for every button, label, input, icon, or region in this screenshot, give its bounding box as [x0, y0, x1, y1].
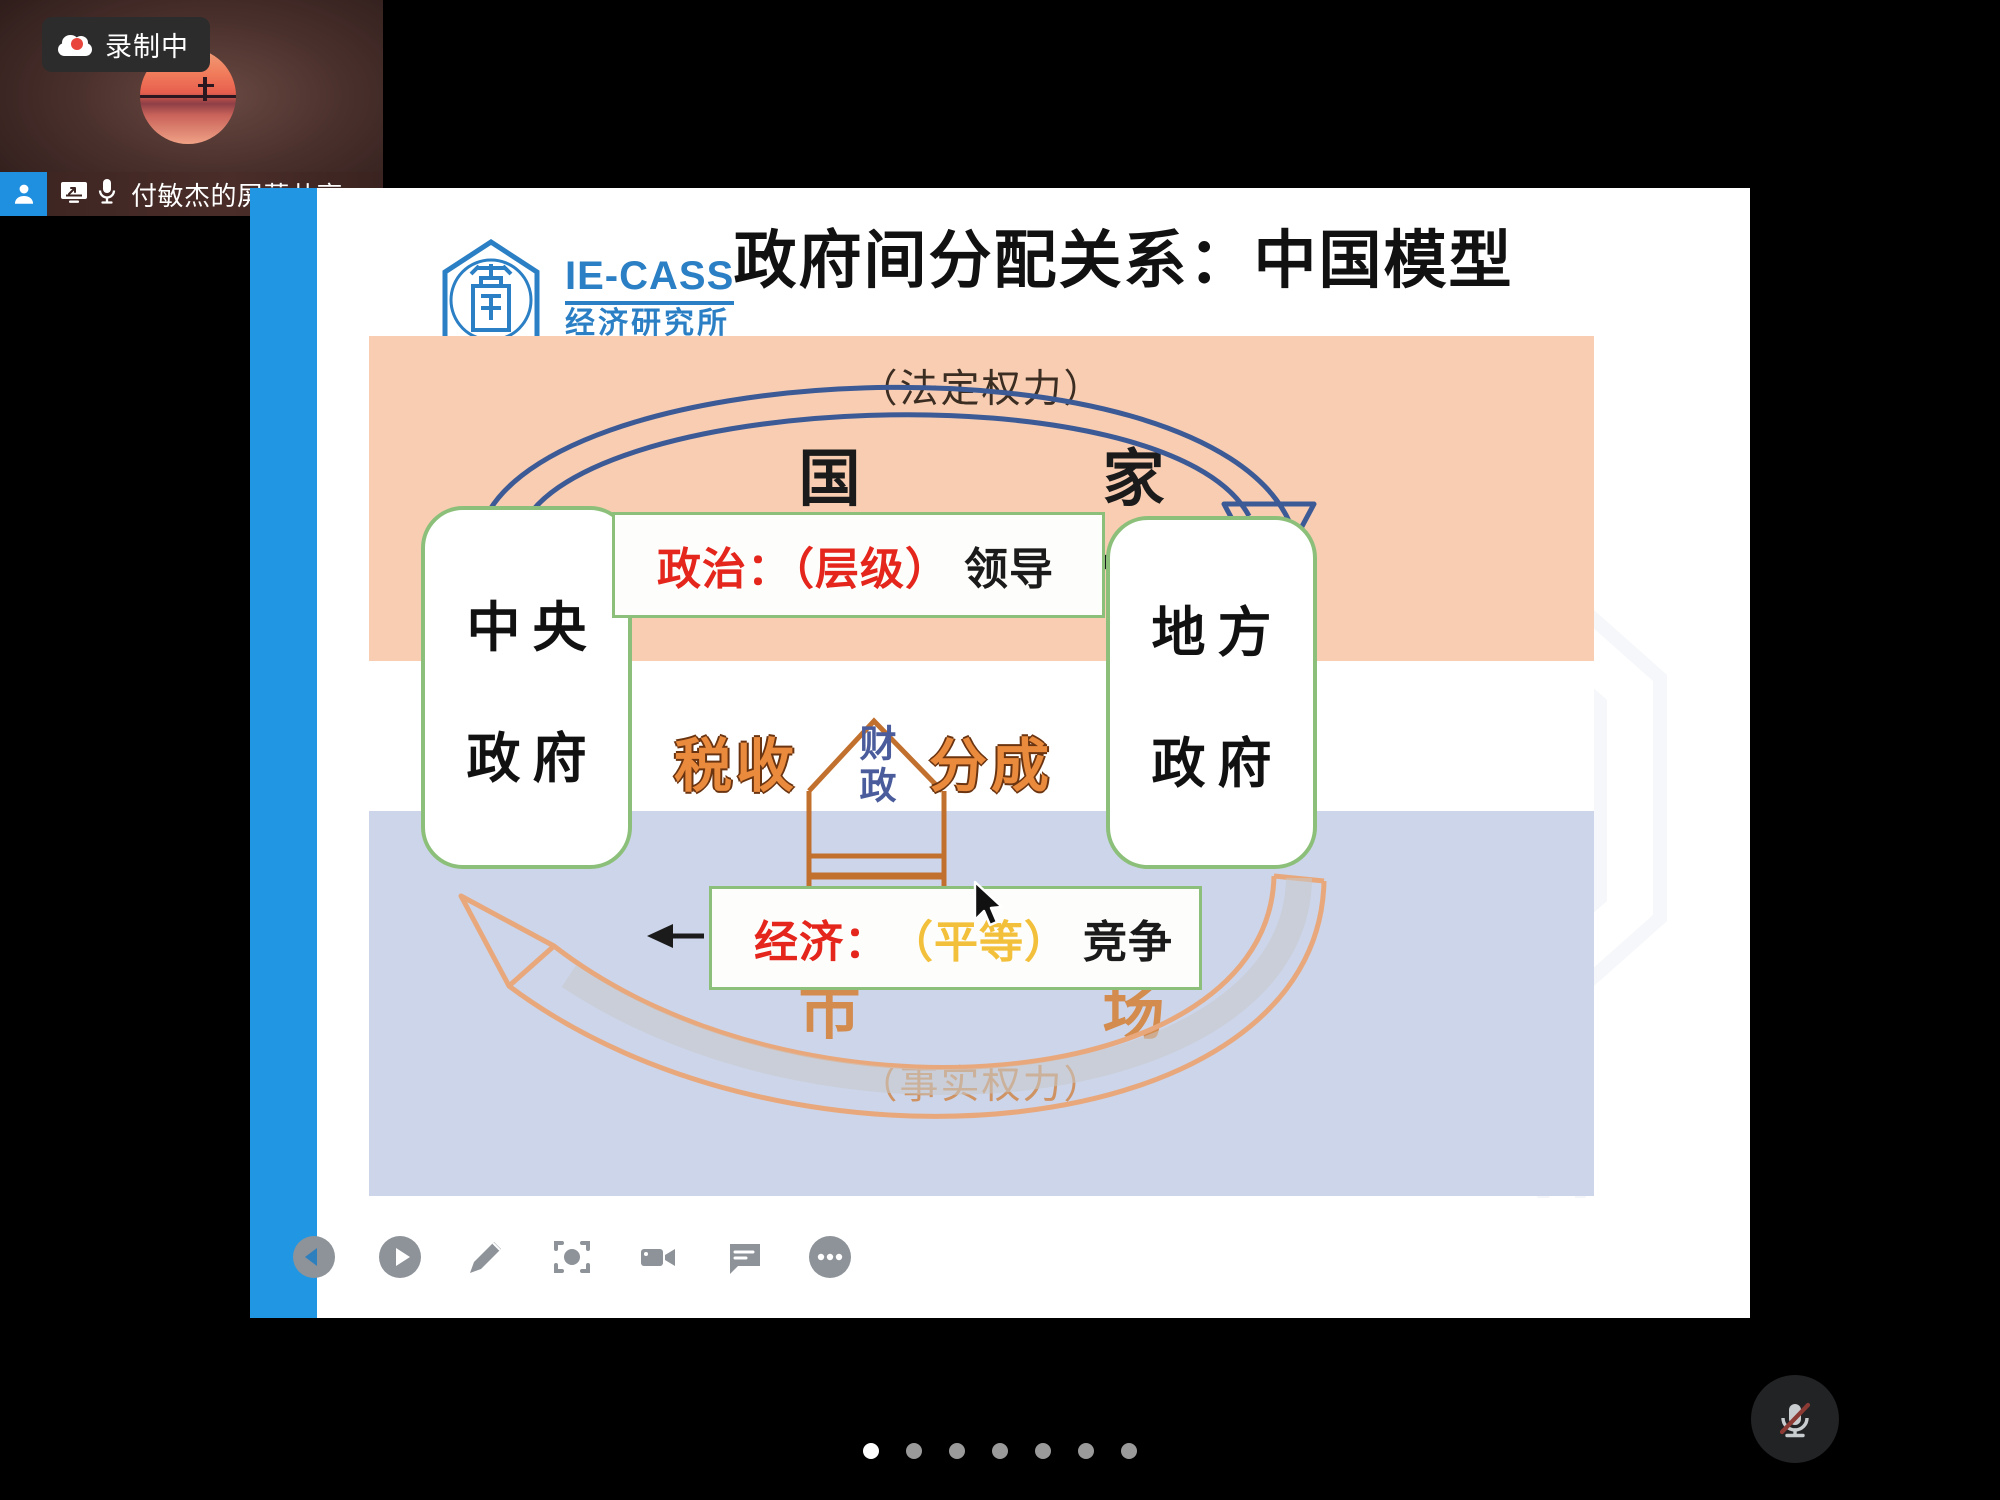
- logo-cn-text: 经济研究所: [565, 309, 734, 339]
- central-gov-line2: 政府: [455, 714, 599, 793]
- pager-dot[interactable]: [906, 1443, 922, 1459]
- economy-label-red: 经济：: [754, 906, 889, 970]
- politics-label-red: 政治：（层级）: [657, 533, 950, 597]
- microphone-muted-icon: [1772, 1396, 1818, 1442]
- record-button[interactable]: [636, 1235, 680, 1279]
- pager-dot[interactable]: [949, 1443, 965, 1459]
- slide-canvas: ECONOMICS 1929 IE-CASS 经济研究所 政府间: [317, 188, 1750, 1318]
- state-label: 国 家: [369, 428, 1594, 518]
- microphone-muted-button[interactable]: [1751, 1375, 1839, 1463]
- economy-label-black: 竞争: [1083, 906, 1173, 970]
- recording-label: 录制中: [105, 25, 189, 64]
- logo-divider: [565, 301, 734, 305]
- tax-label: 税收: [674, 719, 798, 803]
- revenue-sharing-label: 分成: [929, 719, 1053, 803]
- local-government-box: 地方 政府: [1106, 516, 1317, 869]
- central-gov-line1: 中央: [455, 583, 599, 662]
- annotate-button[interactable]: [464, 1235, 508, 1279]
- defacto-power-label: （事实权力）: [369, 1054, 1594, 1110]
- fiscal-label: 财政: [856, 724, 902, 808]
- spotlight-button[interactable]: [550, 1235, 594, 1279]
- more-options-button[interactable]: [808, 1235, 852, 1279]
- screen-share-icon: [60, 180, 88, 209]
- pager-dot[interactable]: [992, 1443, 1008, 1459]
- shared-slide-frame: ECONOMICS 1929 IE-CASS 经济研究所 政府间: [250, 188, 1750, 1318]
- page-title: 政府间分配关系：中国模型: [317, 210, 1750, 301]
- economy-row: 经济： （平等） 竞争: [709, 886, 1202, 990]
- mouse-cursor: [972, 880, 1006, 930]
- diagram: （法定权力） 国 家 市 场 （事实权力）: [369, 336, 1594, 1196]
- slide-toolbar[interactable]: [292, 1235, 852, 1279]
- chat-button[interactable]: [722, 1235, 766, 1279]
- local-gov-line2: 政府: [1140, 719, 1284, 798]
- pager-dot[interactable]: [863, 1443, 879, 1459]
- legal-power-label: （法定权力）: [369, 358, 1594, 414]
- recording-badge: 录制中: [42, 17, 210, 72]
- participant-icon: [0, 172, 47, 216]
- screen-root: 录制中 付敏杰的屏幕共享 ECONOMICS: [0, 0, 2000, 1500]
- previous-slide-button[interactable]: [292, 1235, 336, 1279]
- slide-accent-stripe: [250, 188, 317, 1318]
- politics-row: 政治：（层级） 领导: [612, 512, 1105, 618]
- politics-label-black: 领导: [964, 533, 1054, 597]
- central-government-box: 中央 政府: [421, 506, 632, 869]
- local-gov-line1: 地方: [1140, 588, 1284, 667]
- pager-dot[interactable]: [1035, 1443, 1051, 1459]
- microphone-icon: [97, 178, 117, 211]
- pager-dot[interactable]: [1121, 1443, 1137, 1459]
- slide-pager[interactable]: [0, 1443, 2000, 1459]
- play-slideshow-button[interactable]: [378, 1235, 422, 1279]
- pager-dot[interactable]: [1078, 1443, 1094, 1459]
- cloud-record-icon: [58, 34, 92, 56]
